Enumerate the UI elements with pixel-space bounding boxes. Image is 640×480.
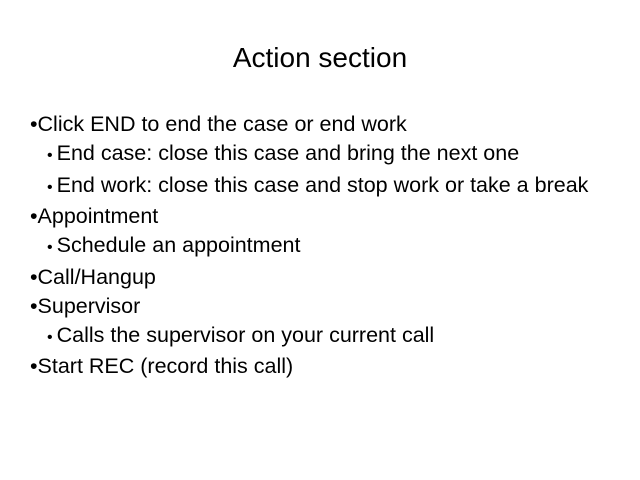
list-item-label: End case: close this case and bring the … [57, 141, 520, 165]
list-item-label: Supervisor [38, 294, 141, 318]
list-item-label: Calls the supervisor on your current cal… [57, 323, 435, 347]
bullet-icon: • [47, 239, 53, 256]
slide-canvas: Action section •Click END to end the cas… [0, 0, 640, 480]
list-item: •End case: close this case and bring the… [28, 139, 612, 171]
list-item: •Supervisor [30, 292, 612, 321]
bullet-icon: • [30, 294, 38, 318]
list-item-label: Appointment [38, 204, 159, 228]
bullet-icon: • [30, 204, 38, 228]
list-item-label: End work: close this case and stop work … [57, 173, 589, 197]
bullet-icon: • [30, 354, 38, 378]
page-title: Action section [0, 41, 640, 75]
bullet-icon: • [47, 329, 53, 346]
list-item: •Calls the supervisor on your current ca… [28, 321, 612, 353]
list-item-label: Start REC (record this call) [38, 354, 294, 378]
bullet-icon: • [30, 112, 38, 136]
list-item: •Start REC (record this call) [30, 352, 612, 381]
bullet-icon: • [47, 147, 53, 164]
bullet-icon: • [47, 179, 53, 196]
bullet-list: •Click END to end the case or end work •… [28, 110, 612, 381]
list-item-label: Click END to end the case or end work [38, 112, 407, 136]
bullet-icon: • [30, 265, 38, 289]
list-item: •Schedule an appointment [28, 231, 612, 263]
list-item: •End work: close this case and stop work… [28, 171, 612, 203]
list-item-label: Schedule an appointment [57, 233, 301, 257]
list-item: •Appointment [30, 202, 612, 231]
list-item: •Click END to end the case or end work [30, 110, 612, 139]
list-item: •Call/Hangup [30, 263, 612, 292]
list-item-label: Call/Hangup [38, 265, 156, 289]
